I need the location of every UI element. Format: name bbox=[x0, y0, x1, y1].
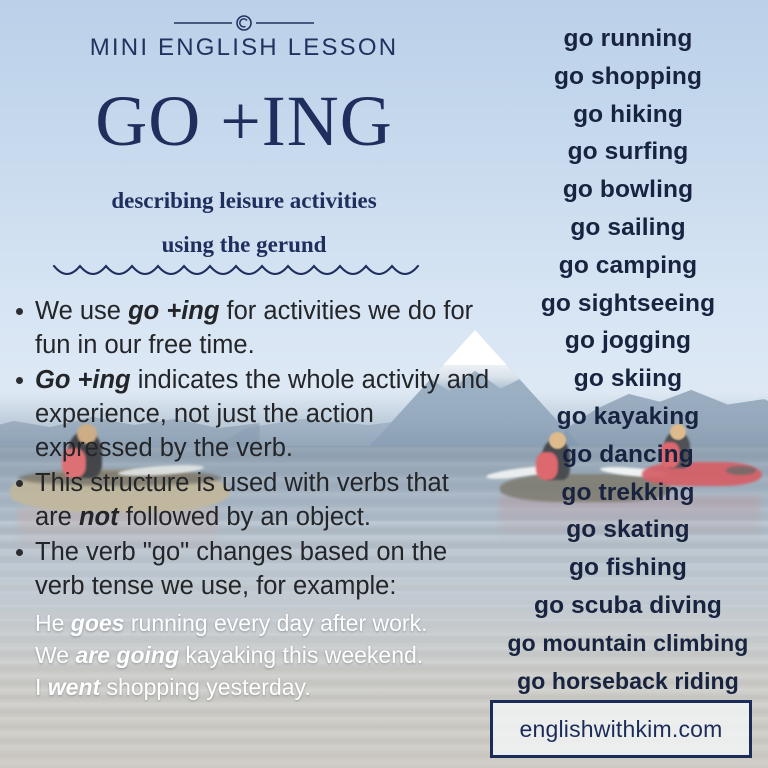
verb-phrase-item: go sightseeing bbox=[488, 285, 768, 323]
poster-canvas: MINI ENGLISH LESSON GO +ING describing l… bbox=[0, 0, 768, 768]
page-title: GO +ING bbox=[0, 82, 488, 160]
verb-phrase-list: go runninggo shoppinggo hikinggo surfing… bbox=[488, 20, 768, 700]
verb-phrase-item: go mountain climbing bbox=[488, 625, 768, 663]
scalloped-wave-divider-icon bbox=[52, 262, 436, 284]
verb-phrase-item: go dancing bbox=[488, 436, 768, 474]
verb-phrase-item: go fishing bbox=[488, 549, 768, 587]
subtitle-line-two: using the gerund bbox=[0, 232, 488, 258]
bullet-list: We use go +ing for activities we do for … bbox=[8, 294, 490, 703]
website-badge[interactable]: englishwithkim.com bbox=[490, 700, 752, 758]
verb-phrase-item: go bowling bbox=[488, 171, 768, 209]
list-item: Go +ing indicates the whole activity and… bbox=[8, 363, 490, 465]
verb-phrase-item: go skiing bbox=[488, 360, 768, 398]
example-sentence: I went shopping yesterday. bbox=[35, 671, 490, 703]
verb-phrase-item: go running bbox=[488, 20, 768, 58]
verb-phrase-item: go hiking bbox=[488, 96, 768, 134]
lesson-column: MINI ENGLISH LESSON GO +ING describing l… bbox=[0, 0, 488, 768]
poster-content: MINI ENGLISH LESSON GO +ING describing l… bbox=[0, 0, 768, 768]
line-spiral-divider-icon bbox=[0, 12, 488, 34]
verb-phrase-item: go horseback riding bbox=[488, 663, 768, 701]
verb-phrase-item: go sailing bbox=[488, 209, 768, 247]
verb-phrase-item: go scuba diving bbox=[488, 587, 768, 625]
subtitle-line-one: describing leisure activities bbox=[0, 188, 488, 214]
verb-phrase-item: go skating bbox=[488, 511, 768, 549]
list-item: The verb "go" changes based on the verb … bbox=[8, 535, 490, 603]
verb-phrase-column: go runninggo shoppinggo hikinggo surfing… bbox=[488, 0, 768, 768]
list-item: We use go +ing for activities we do for … bbox=[8, 294, 490, 362]
example-sentence: We are going kayaking this weekend. bbox=[35, 639, 490, 671]
verb-phrase-item: go jogging bbox=[488, 322, 768, 360]
verb-phrase-item: go kayaking bbox=[488, 398, 768, 436]
verb-phrase-item: go camping bbox=[488, 247, 768, 285]
verb-phrase-item: go trekking bbox=[488, 474, 768, 512]
verb-phrase-item: go shopping bbox=[488, 58, 768, 96]
website-label: englishwithkim.com bbox=[520, 716, 723, 743]
list-item: This structure is used with verbs that a… bbox=[8, 466, 490, 534]
example-sentence: He goes running every day after work. bbox=[35, 607, 490, 639]
page-kicker: MINI ENGLISH LESSON bbox=[0, 34, 488, 62]
example-sentences: He goes running every day after work. We… bbox=[8, 607, 490, 703]
verb-phrase-item: go surfing bbox=[488, 133, 768, 171]
